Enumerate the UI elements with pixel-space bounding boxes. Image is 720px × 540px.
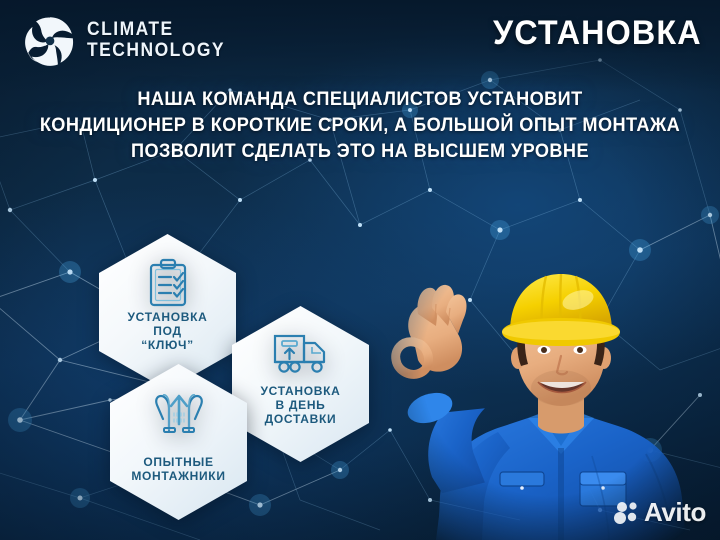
headline-line-3: ПОЗВОЛИТ СДЕЛАТЬ ЭТО НА ВЫСШЕМ УРОВНЕ [25,138,695,164]
brand-name-line2: TECHNOLOGY [87,41,225,60]
feature-hex-experienced-installers[interactable]: ОПЫТНЫЕ МОНТАЖНИКИ [106,362,251,522]
brand-logo: CLIMATE TECHNOLOGY [22,12,237,68]
headline-block: НАША КОМАНДА СПЕЦИАЛИСТОВ УСТАНОВИТ КОНД… [0,86,720,164]
clipboard-checklist-icon [95,258,240,308]
avito-dots-icon [614,500,640,526]
page-title: УСТАНОВКА [493,14,702,53]
brand-name-line1: CLIMATE [87,20,225,39]
spiral-fan-logo-icon [22,12,78,68]
caring-hands-icon [106,388,251,434]
avito-watermark: Avito [614,497,706,528]
headline-line-2: КОНДИЦИОНЕР В КОРОТКИЕ СРОКИ, А БОЛЬШОЙ … [25,112,695,138]
avito-wordmark: Avito [644,497,706,528]
worker-photo [378,196,720,540]
advertisement-banner: CLIMATE TECHNOLOGY УСТАНОВКА НАША КОМАНД… [0,0,720,540]
brand-name: CLIMATE TECHNOLOGY [87,20,237,60]
headline-line-1: НАША КОМАНДА СПЕЦИАЛИСТОВ УСТАНОВИТ [25,86,695,112]
